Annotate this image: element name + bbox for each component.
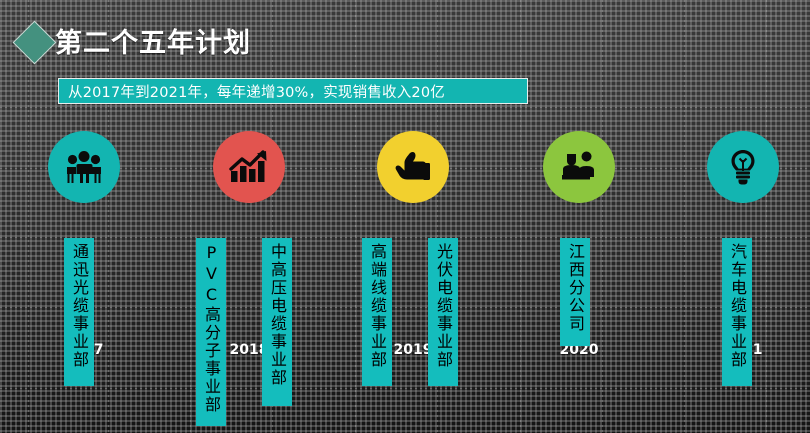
department-label: 通迅光缆事业部 [69, 243, 89, 369]
milestone-2019[interactable]: 2019 [377, 131, 449, 203]
department-box[interactable]: PVC高分子事业部 [196, 238, 226, 426]
department-box[interactable]: 汽车电缆事业部 [722, 238, 752, 386]
milestone-circle-2017 [48, 131, 120, 203]
page-title: 第二个五年计划 [55, 21, 251, 60]
milestone-2017[interactable]: 2017 [48, 131, 120, 203]
diamond-bullet-icon [13, 21, 57, 65]
two-people-icon [560, 151, 598, 183]
milestone-2021[interactable]: 2021 [707, 131, 779, 203]
background-grid [0, 0, 810, 433]
thumbs-up-icon [393, 150, 433, 184]
department-box[interactable]: 江西分公司 [560, 238, 590, 346]
grid-rule-horizontal [0, 388, 810, 389]
slide-canvas: 第二个五年计划 从2017年到2021年，每年递增30%，实现销售收入20亿 2… [0, 0, 810, 433]
grid-rule-horizontal [0, 237, 810, 238]
subtitle-banner: 从2017年到2021年，每年递增30%，实现销售收入20亿 [58, 78, 528, 104]
milestone-circle-2020 [543, 131, 615, 203]
grid-rule-vertical [28, 0, 29, 433]
milestone-2018[interactable]: 2018 [213, 131, 285, 203]
grid-rule-horizontal [0, 307, 810, 308]
department-label: PVC高分子事业部 [201, 243, 221, 414]
department-label: 中高压电缆事业部 [267, 243, 287, 387]
grid-rule-horizontal [0, 107, 810, 108]
department-label: 高端线缆事业部 [367, 243, 387, 369]
lightbulb-icon [727, 148, 759, 186]
department-box[interactable]: 高端线缆事业部 [362, 238, 392, 386]
subtitle-text: 从2017年到2021年，每年递增30%，实现销售收入20亿 [68, 81, 445, 102]
milestone-circle-2018 [213, 131, 285, 203]
grid-rule-vertical [108, 0, 109, 433]
department-box[interactable]: 光伏电缆事业部 [428, 238, 458, 386]
department-box[interactable]: 中高压电缆事业部 [262, 238, 292, 406]
department-box[interactable]: 通迅光缆事业部 [64, 238, 94, 386]
grid-rule-vertical [355, 0, 356, 433]
growth-chart-icon [228, 150, 270, 184]
milestone-circle-2021 [707, 131, 779, 203]
milestone-2020[interactable]: 2020 [543, 131, 615, 203]
department-label: 汽车电缆事业部 [727, 243, 747, 369]
department-label: 江西分公司 [565, 243, 585, 333]
grid-rule-vertical [684, 0, 685, 433]
grid-rule-vertical [602, 0, 603, 433]
grid-rule-vertical [520, 0, 521, 433]
department-label: 光伏电缆事业部 [433, 243, 453, 369]
group-people-icon [64, 150, 104, 184]
grid-rule-vertical [766, 0, 767, 433]
grid-rule-vertical [190, 0, 191, 433]
milestone-circle-2019 [377, 131, 449, 203]
